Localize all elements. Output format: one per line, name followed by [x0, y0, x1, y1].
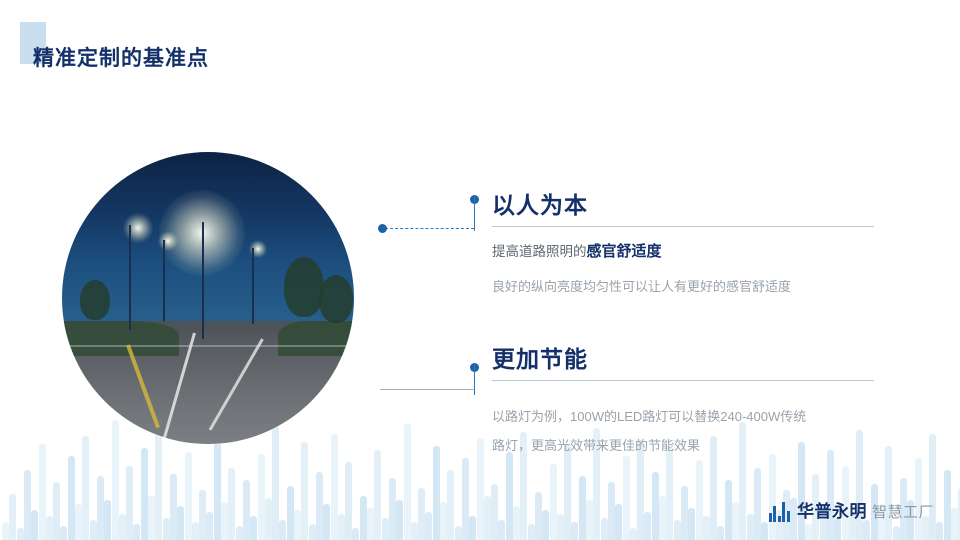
decorative-bar: [126, 466, 133, 540]
decorative-bar: [17, 528, 24, 540]
company-logo: 华普永明 智慧工厂: [769, 497, 934, 522]
block-heading-1: 以人为本: [492, 186, 892, 220]
decorative-bar: [542, 510, 549, 540]
decorative-bar: [374, 450, 381, 540]
logo-bars-icon: [769, 500, 790, 522]
decorative-bar: [491, 484, 498, 540]
decorative-bar: [352, 528, 359, 540]
decorative-bar: [294, 510, 301, 540]
decorative-bar: [644, 512, 651, 540]
decorative-bar: [360, 496, 367, 540]
connector-solid-line-2: [380, 389, 474, 390]
decorative-bar: [652, 472, 659, 540]
block-heading-2: 更加节能: [492, 340, 892, 374]
block-subtitle-highlight-1: 感官舒适度: [587, 243, 662, 260]
decorative-bar: [455, 526, 462, 540]
content-block-energy-saving: 更加节能 以路灯为例，100W的LED路灯可以替换240-400W传统 路灯，更…: [492, 340, 892, 460]
photo-grass-right: [278, 321, 354, 356]
decorative-bar: [418, 488, 425, 540]
decorative-bar: [279, 520, 286, 540]
decorative-bar: [404, 424, 411, 540]
decorative-bar: [885, 446, 892, 540]
decorative-bar: [9, 494, 16, 540]
decorative-bar: [39, 444, 46, 540]
decorative-bar: [447, 470, 454, 540]
decorative-bar: [331, 434, 338, 540]
decorative-bar: [674, 520, 681, 540]
photo-curb: [62, 345, 354, 347]
decorative-bar: [827, 450, 834, 540]
block-heading-rule-1: [492, 226, 874, 227]
decorative-bar: [309, 524, 316, 540]
decorative-bar: [316, 472, 323, 540]
decorative-bar: [696, 460, 703, 540]
decorative-bar: [747, 514, 754, 540]
block-body-2-line1: 以路灯为例，100W的LED路灯可以替换240-400W传统: [492, 403, 892, 430]
page-title: 精准定制的基准点: [33, 42, 209, 72]
decorative-bar: [557, 514, 564, 540]
roadside-tree-1: [284, 257, 324, 317]
decorative-bar: [863, 520, 870, 540]
content-block-people-first: 以人为本 提高道路照明的感官舒适度 良好的纵向亮度均匀性可以让人有更好的感官舒适…: [492, 186, 892, 300]
block-subtitle-1: 提高道路照明的感官舒适度: [492, 238, 892, 267]
decorative-bar: [287, 486, 294, 540]
decorative-bar: [221, 502, 228, 540]
decorative-bar: [60, 526, 67, 540]
decorative-bar: [571, 522, 578, 540]
roadside-tree-2: [319, 275, 353, 323]
decorative-bar: [513, 506, 520, 540]
connector-vertical-line-1: [474, 195, 475, 231]
decorative-bar: [228, 468, 235, 540]
decorative-bar: [893, 526, 900, 540]
decorative-bar: [301, 442, 308, 540]
decorative-bar: [484, 496, 491, 540]
connector-vertical-line-2: [474, 363, 475, 395]
streetlamp-pole-main: [202, 222, 204, 339]
decorative-bar: [550, 464, 557, 540]
decorative-bar: [177, 506, 184, 540]
decorative-bar: [338, 514, 345, 540]
decorative-bar: [433, 446, 440, 540]
decorative-bar: [24, 470, 31, 540]
block-body-1: 良好的纵向亮度均匀性可以让人有更好的感官舒适度: [492, 273, 892, 300]
decorative-bar: [382, 518, 389, 540]
decorative-bar: [440, 502, 447, 540]
decorative-bar: [586, 500, 593, 540]
decorative-bar: [46, 516, 53, 540]
decorative-bar: [929, 434, 936, 540]
decorative-bar: [411, 522, 418, 540]
decorative-bar: [345, 462, 352, 540]
logo-company-sub: 智慧工厂: [872, 501, 934, 522]
decorative-bar: [53, 482, 60, 540]
decorative-bar: [185, 452, 192, 540]
decorative-bar: [258, 454, 265, 540]
decorative-bar: [141, 448, 148, 540]
block-body-2-line2: 路灯，更高光效带来更佳的节能效果: [492, 432, 892, 459]
block-body-2-highlight: 光效: [557, 438, 583, 453]
decorative-bar: [243, 480, 250, 540]
block-body-2-post: 带来更佳的节能效果: [583, 438, 700, 453]
decorative-bar: [630, 528, 637, 540]
decorative-bar: [615, 504, 622, 540]
decorative-bar: [528, 524, 535, 540]
decorative-bar: [535, 492, 542, 540]
decorative-bar: [199, 490, 206, 540]
decorative-bar: [214, 440, 221, 540]
photo-grass-left: [62, 321, 179, 356]
decorative-bar: [206, 512, 213, 540]
decorative-bar: [163, 518, 170, 540]
decorative-bar: [75, 504, 82, 540]
decorative-bar: [250, 516, 257, 540]
night-street-lighting-photo: [62, 152, 354, 444]
decorative-bar: [659, 496, 666, 540]
decorative-bar: [155, 430, 162, 540]
decorative-bar: [469, 516, 476, 540]
slide-root: 精准定制的基准点 以人为本 提高道路照明的感官舒适度 良好: [0, 0, 960, 540]
roadside-tree-3: [80, 280, 110, 320]
decorative-bar: [703, 516, 710, 540]
decorative-bar: [425, 512, 432, 540]
decorative-bar: [498, 520, 505, 540]
block-subtitle-lead-1: 提高道路照明的: [492, 244, 587, 259]
logo-company-name: 华普永明: [797, 497, 867, 522]
decorative-bar: [462, 458, 469, 540]
decorative-bar: [90, 520, 97, 540]
decorative-bar: [104, 500, 111, 540]
decorative-bar: [623, 456, 630, 540]
decorative-bar: [761, 522, 768, 540]
decorative-bar: [170, 474, 177, 540]
decorative-bar: [805, 524, 812, 540]
decorative-bar: [944, 470, 951, 540]
decorative-bar: [477, 438, 484, 540]
decorative-bar: [119, 514, 126, 540]
decorative-bar: [579, 476, 586, 540]
decorative-bar: [2, 522, 9, 540]
streetlamp-pole-right: [252, 248, 254, 324]
decorative-bar: [192, 522, 199, 540]
block-body-2-pre: 路灯，更高: [492, 438, 557, 453]
decorative-bar: [389, 478, 396, 540]
streetlamp-pole-left2: [163, 240, 165, 322]
decorative-bar: [725, 480, 732, 540]
decorative-bar: [265, 498, 272, 540]
decorative-bar: [68, 456, 75, 540]
connector-dashed-line-1: [380, 228, 474, 229]
decorative-bar: [82, 436, 89, 540]
decorative-bar: [732, 502, 739, 540]
decorative-bar: [31, 510, 38, 540]
decorative-bar: [951, 508, 958, 540]
decorative-bar: [666, 448, 673, 540]
decorative-bar: [681, 486, 688, 540]
decorative-bar: [396, 500, 403, 540]
streetlamp-pole-left: [129, 225, 131, 330]
connector-dot-left-1: [378, 224, 387, 233]
decorative-bar: [608, 482, 615, 540]
decorative-bar: [148, 496, 155, 540]
decorative-bar: [936, 522, 943, 540]
decorative-bar: [506, 452, 513, 540]
decorative-bar: [133, 524, 140, 540]
decorative-bar: [601, 518, 608, 540]
decorative-bar: [97, 476, 104, 540]
decorative-bar: [236, 526, 243, 540]
decorative-bar: [717, 526, 724, 540]
decorative-bar: [367, 508, 374, 540]
block-heading-rule-2: [492, 380, 874, 381]
decorative-bar: [323, 504, 330, 540]
decorative-bar: [688, 508, 695, 540]
decorative-bar: [754, 468, 761, 540]
